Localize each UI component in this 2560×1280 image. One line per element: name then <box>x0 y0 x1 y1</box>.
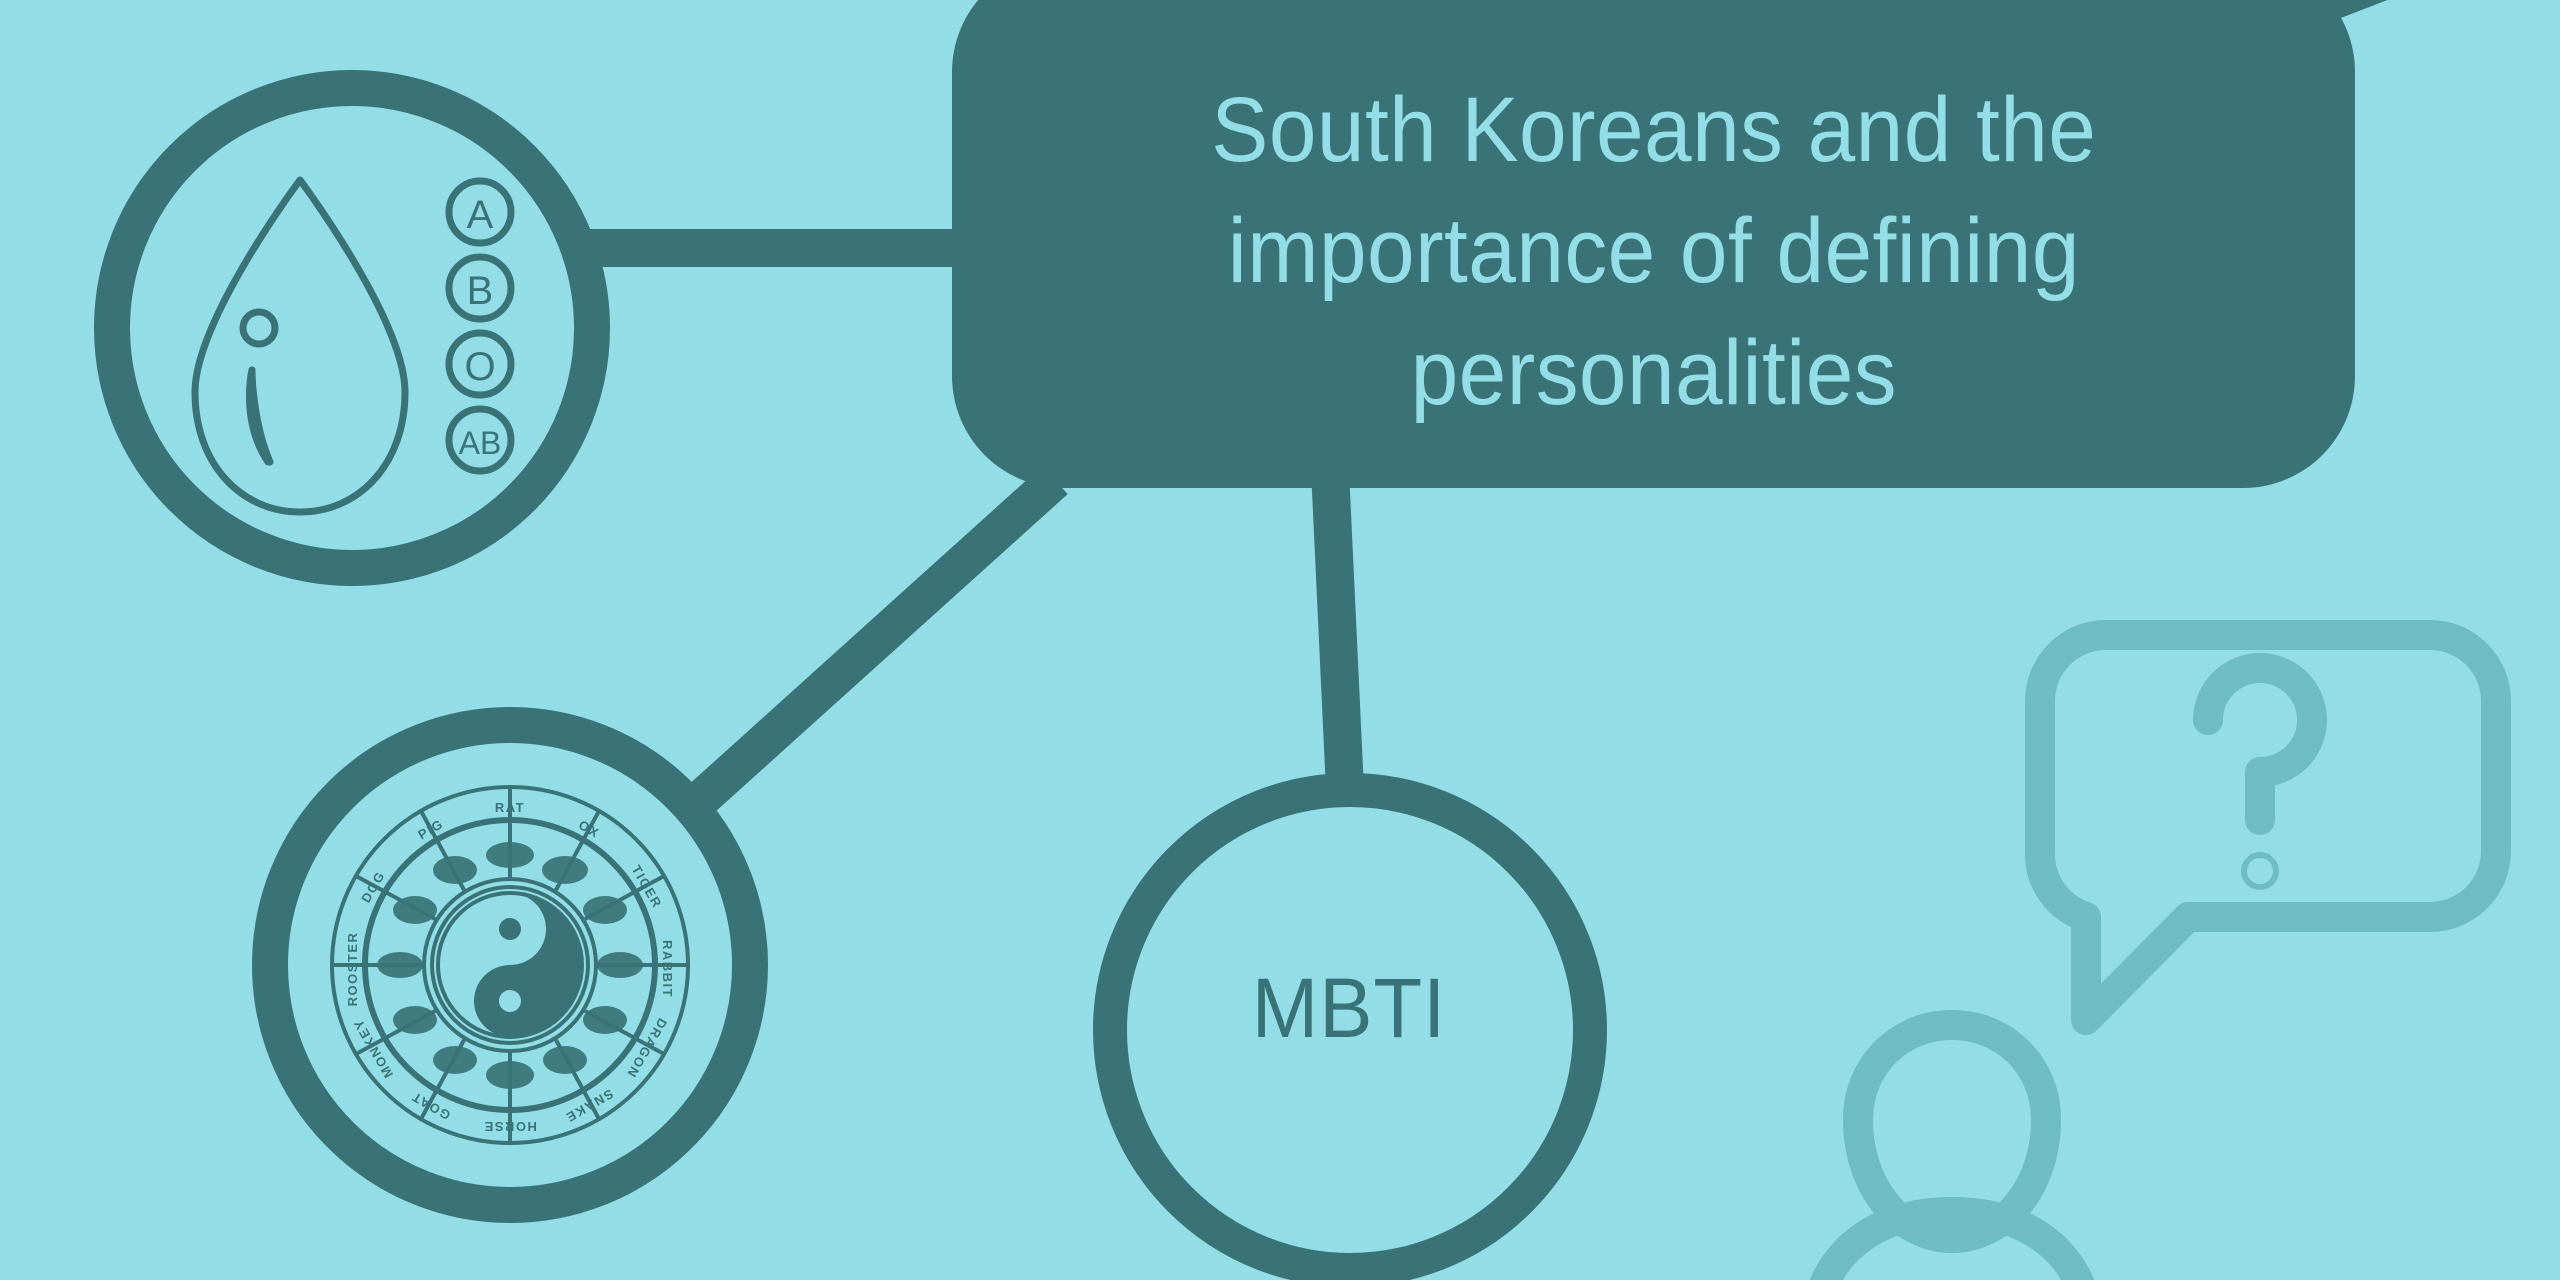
person-avatar-icon <box>1816 1025 2088 1280</box>
svg-text:A: A <box>467 193 494 237</box>
title-card: South Koreans and the importance of defi… <box>952 0 2355 488</box>
node-chinese-zodiac[interactable]: RAT OX TIGER RABBIT DRAGON SNAKE HORSE G… <box>270 725 750 1205</box>
chinese-zodiac-wheel-icon: RAT OX TIGER RABBIT DRAGON SNAKE HORSE G… <box>332 787 688 1143</box>
node-blood-type[interactable]: A B O AB <box>112 88 592 568</box>
zodiac-name-rabbit: RABBIT <box>660 940 675 998</box>
zodiac-name-rat: RAT <box>495 800 525 815</box>
page-title: South Koreans and the importance of defi… <box>1211 70 2096 434</box>
svg-text:AB: AB <box>459 425 502 461</box>
zodiac-name-horse: HORSE <box>483 1119 537 1134</box>
zodiac-name-rooster: ROOSTER <box>345 932 360 1007</box>
infographic-canvas: A B O AB <box>0 0 2560 1280</box>
connector-zodiac-to-title <box>700 480 1055 800</box>
svg-text:O: O <box>464 345 495 389</box>
speech-bubble-question-icon <box>2040 635 2496 1020</box>
connector-mbti-to-title <box>1330 470 1345 790</box>
mbti-label: MBTI <box>1207 960 1492 1057</box>
svg-text:B: B <box>467 269 494 313</box>
yin-yang-icon <box>438 893 582 1037</box>
